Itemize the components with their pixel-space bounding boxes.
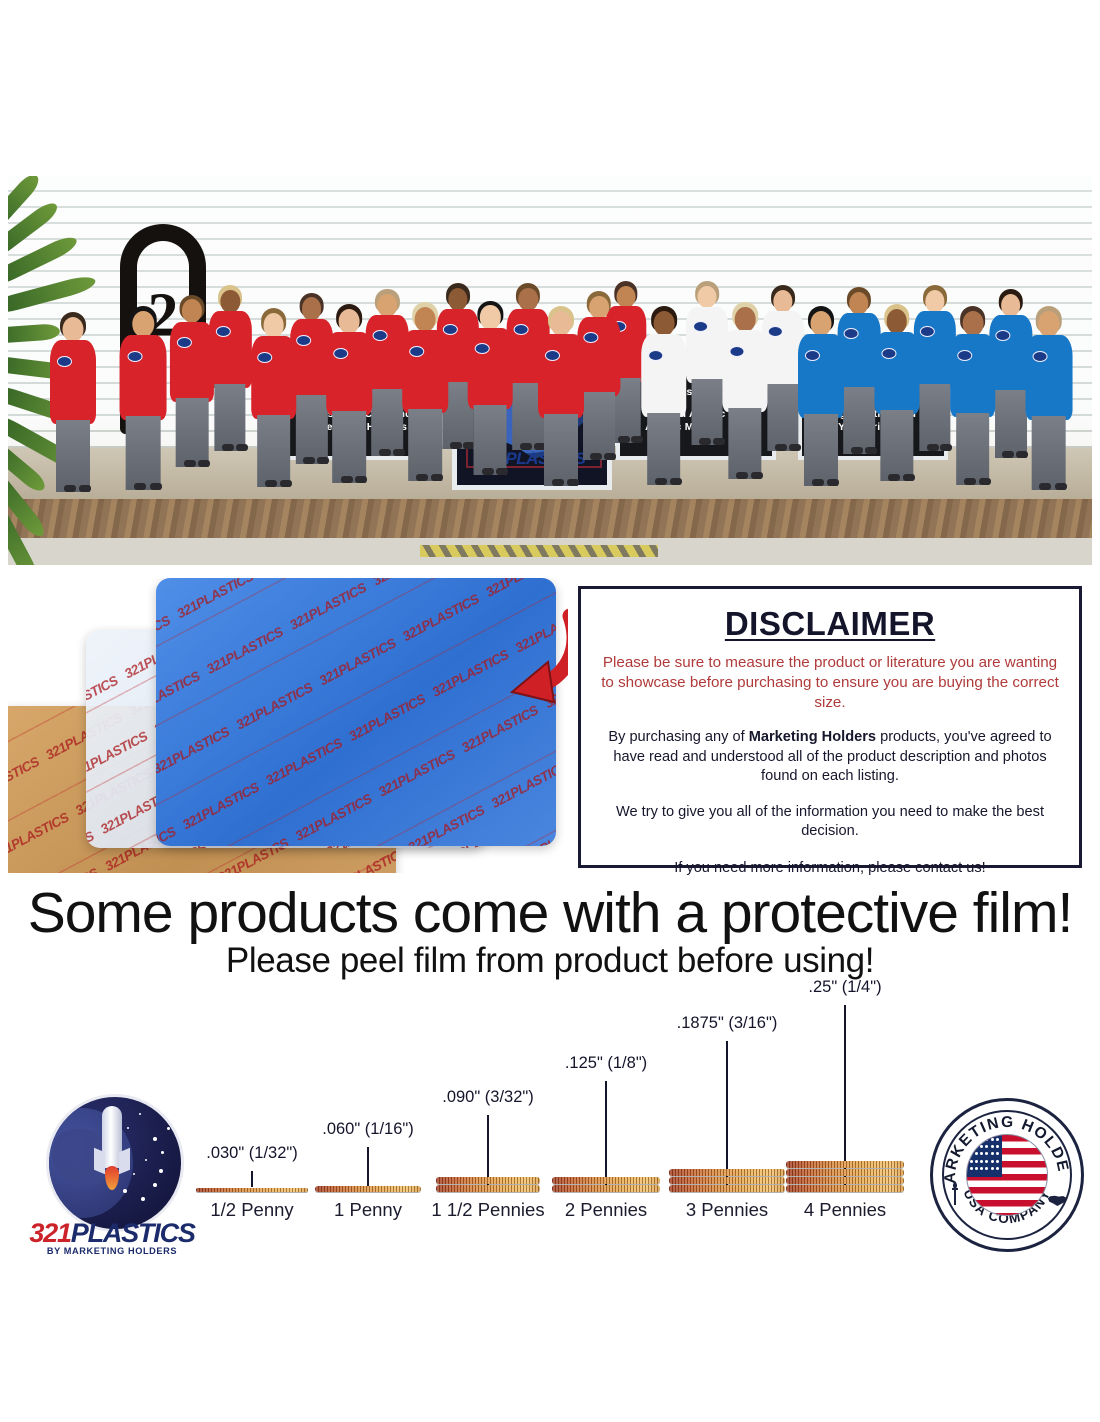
rocket-fin-right — [119, 1148, 130, 1174]
shoe — [567, 479, 579, 486]
shirt-logo-icon — [881, 348, 896, 359]
shirt-logo-icon — [475, 343, 490, 354]
shoe — [482, 468, 494, 475]
staff-member — [248, 308, 299, 516]
us-flag-icon — [966, 1134, 1048, 1216]
shoe — [736, 472, 748, 479]
legs — [767, 384, 798, 450]
staff-member — [871, 304, 922, 510]
shoe — [416, 474, 428, 481]
rocket-flame — [105, 1166, 119, 1190]
legs — [372, 389, 404, 456]
rocket-fin-left — [94, 1148, 105, 1174]
legs — [880, 410, 913, 481]
shirt — [170, 322, 214, 403]
leader-line — [605, 1081, 607, 1187]
category-label: 3 Pennies — [686, 1199, 768, 1221]
legs — [804, 414, 838, 486]
disclaimer-box: DISCLAIMER Please be sure to measure the… — [578, 586, 1082, 868]
flag-star — [996, 1152, 999, 1155]
flag-star — [975, 1160, 978, 1163]
shirt — [874, 332, 919, 414]
legs — [474, 405, 507, 475]
shirt-logo-icon — [215, 326, 230, 337]
penny-coin — [669, 1169, 785, 1176]
shoe — [222, 444, 234, 451]
category-label: 1 Penny — [334, 1199, 402, 1221]
shirt — [798, 334, 844, 418]
head — [887, 309, 908, 334]
leader-line — [726, 1041, 728, 1187]
staff-member — [167, 295, 217, 497]
flag-star — [991, 1138, 994, 1141]
head — [773, 290, 792, 313]
penny-stack — [436, 1177, 540, 1193]
shoe — [431, 474, 443, 481]
head — [550, 311, 571, 336]
shoe — [496, 468, 508, 475]
flag-star — [970, 1138, 973, 1141]
flag-star — [975, 1138, 978, 1141]
shoe — [964, 478, 976, 485]
head — [221, 290, 240, 313]
shirt — [1025, 335, 1072, 421]
legs — [956, 413, 990, 484]
head — [1038, 311, 1059, 337]
staff-group — [8, 258, 1092, 523]
legs — [176, 398, 209, 467]
head — [698, 286, 717, 309]
shoe — [236, 444, 248, 451]
head — [811, 311, 832, 336]
shirt-logo-icon — [334, 348, 349, 359]
flag-star — [991, 1145, 994, 1148]
shirt-logo-icon — [1032, 351, 1047, 362]
protective-film-photo: 321PLASTICS 321PLASTICS 321PLASTICS 321P… — [8, 578, 568, 873]
shoe — [79, 485, 91, 492]
shoe — [827, 479, 839, 486]
measurement-label: .090" (3/32") — [442, 1088, 534, 1107]
penny-coin — [786, 1185, 904, 1192]
legs — [409, 409, 443, 480]
shirt-logo-icon — [409, 346, 424, 357]
marketing-holders-seal: MARKETING HOLDERS USA COMPANY — [930, 1098, 1084, 1252]
legs — [728, 408, 761, 479]
flag-star — [970, 1145, 973, 1148]
shirt — [641, 334, 687, 417]
legs — [333, 411, 367, 482]
measurement-label: .030" (1/32") — [206, 1144, 298, 1163]
star-icon — [161, 1151, 164, 1154]
head — [653, 311, 674, 336]
penny-coin — [436, 1185, 540, 1192]
shirt-logo-icon — [545, 350, 560, 361]
head — [63, 317, 84, 342]
penny-coin — [669, 1185, 785, 1192]
penny-coin — [315, 1186, 421, 1192]
shoe — [280, 480, 292, 487]
shoe — [134, 483, 146, 490]
legs — [647, 413, 681, 484]
staff-member — [1022, 306, 1075, 520]
measurement-label: .060" (1/16") — [322, 1120, 414, 1139]
head — [302, 297, 322, 321]
staff-member — [720, 302, 771, 508]
head — [849, 292, 869, 315]
flag-star — [970, 1152, 973, 1155]
head — [480, 305, 500, 329]
caution-stripe — [420, 545, 658, 557]
shoe — [888, 474, 900, 481]
flag-star — [970, 1160, 973, 1163]
flag-star — [980, 1145, 983, 1148]
flag-star — [980, 1167, 983, 1170]
logo-321plastics: 321PLASTICS BY MARKETING HOLDERS — [24, 1092, 200, 1264]
shirt-logo-icon — [57, 356, 72, 367]
legs — [544, 414, 578, 486]
head — [589, 296, 609, 320]
shoe — [341, 476, 353, 483]
penny-coin — [669, 1177, 785, 1184]
logo-321: 321 — [29, 1218, 70, 1248]
shoe — [552, 479, 564, 486]
flag-star — [975, 1145, 978, 1148]
legs — [692, 379, 723, 445]
flag-star — [996, 1160, 999, 1163]
brand-marketing-holders: Marketing Holders — [749, 729, 876, 745]
shoe — [184, 460, 196, 467]
legs — [583, 392, 615, 460]
head — [962, 311, 983, 336]
head — [415, 307, 436, 332]
flag-star — [996, 1167, 999, 1170]
logo-tagline: BY MARKETING HOLDERS — [24, 1246, 200, 1256]
star-icon — [139, 1113, 141, 1115]
shoe — [520, 443, 532, 450]
red-curved-arrow-icon — [478, 606, 568, 716]
star-icon — [133, 1173, 135, 1175]
head — [925, 290, 944, 313]
flag-star — [991, 1160, 994, 1163]
flag-star — [975, 1152, 978, 1155]
head — [1001, 294, 1021, 318]
shoe — [812, 479, 824, 486]
rocket-icon — [95, 1106, 129, 1198]
star-icon — [153, 1137, 157, 1141]
page-subtitle: Please peel film from product before usi… — [0, 943, 1100, 978]
shoe — [927, 444, 939, 451]
shoe — [670, 478, 682, 485]
shoe — [1002, 451, 1014, 458]
shirt — [723, 330, 768, 412]
flag-canton — [967, 1135, 1002, 1177]
penny-coin — [786, 1161, 904, 1168]
staff-member — [795, 306, 847, 516]
staff-member — [117, 306, 170, 520]
legs — [56, 420, 90, 492]
shirt-logo-icon — [693, 321, 708, 332]
legs — [257, 415, 291, 486]
shirt-logo-icon — [258, 352, 273, 363]
flag-star — [980, 1160, 983, 1163]
head — [182, 299, 202, 323]
flag-star — [975, 1167, 978, 1170]
star-icon — [145, 1159, 147, 1161]
disclaimer-title: DISCLAIMER — [597, 605, 1063, 643]
flag-star — [985, 1167, 988, 1170]
flag-star — [996, 1145, 999, 1148]
star-icon — [167, 1127, 170, 1130]
legs — [126, 416, 161, 489]
leader-line — [251, 1171, 253, 1187]
category-label: 1/2 Penny — [210, 1199, 293, 1221]
flag-star — [980, 1138, 983, 1141]
marketing-page: 2 ★Specialty Products ★Business Card and… — [0, 0, 1100, 1422]
para2-pre: By purchasing any of — [608, 729, 748, 745]
shoe — [450, 442, 462, 449]
category-label: 1 1/2 Pennies — [431, 1199, 544, 1221]
legs — [919, 384, 950, 450]
star-icon — [141, 1197, 145, 1201]
shoe — [604, 453, 616, 460]
flag-star — [970, 1167, 973, 1170]
staff-member — [400, 302, 451, 510]
staff-member — [324, 304, 375, 512]
leader-line — [367, 1147, 369, 1187]
shoe — [303, 457, 315, 464]
page-title: Some products come with a protective fil… — [0, 885, 1100, 942]
shoe — [1039, 483, 1051, 490]
shirt-logo-icon — [957, 350, 972, 361]
penny-coin — [552, 1185, 660, 1192]
legs — [1031, 416, 1066, 489]
shirt-logo-icon — [513, 324, 528, 335]
shoe — [775, 444, 787, 451]
logo-plastics: PLASTICS — [71, 1218, 195, 1248]
flag-star — [985, 1160, 988, 1163]
logo-wordmark: 321PLASTICS — [24, 1220, 200, 1247]
shoe — [655, 478, 667, 485]
disclaimer-para-4: If you need more information, please con… — [597, 859, 1063, 878]
shirt-logo-icon — [177, 337, 192, 348]
flag-star — [980, 1152, 983, 1155]
penny-stack — [669, 1169, 785, 1193]
shoe — [699, 438, 711, 445]
team-photo: 2 ★Specialty Products ★Business Card and… — [8, 176, 1092, 565]
star-icon — [153, 1183, 157, 1187]
shirt — [50, 340, 96, 424]
staff-member — [47, 312, 99, 522]
shoe — [903, 474, 915, 481]
shirt — [468, 328, 513, 409]
head — [339, 309, 360, 334]
flag-star — [985, 1145, 988, 1148]
legs — [215, 384, 246, 450]
penny-stack — [196, 1188, 308, 1193]
head — [133, 311, 154, 337]
staff-member — [465, 301, 515, 505]
staff-member — [638, 306, 689, 514]
penny-coin — [786, 1177, 904, 1184]
penny-stack — [552, 1177, 660, 1193]
measurement-label: .125" (1/8") — [565, 1054, 647, 1073]
disclaimer-para-3: We try to give you all of the informatio… — [597, 803, 1063, 842]
shoe — [979, 478, 991, 485]
penny-coin — [436, 1177, 540, 1184]
shirt — [950, 334, 996, 417]
penny-stack — [786, 1161, 904, 1193]
shirt — [327, 332, 373, 415]
penny-coin — [196, 1188, 308, 1192]
flag-star — [985, 1138, 988, 1141]
penny-stack — [315, 1186, 421, 1193]
flag-star — [985, 1152, 988, 1155]
flag-star — [991, 1152, 994, 1155]
measurement-label: .1875" (3/16") — [677, 1014, 778, 1033]
flag-star — [991, 1167, 994, 1170]
shoe — [379, 449, 391, 456]
flag-star — [996, 1138, 999, 1141]
staff-member — [535, 306, 587, 516]
penny-coin — [786, 1169, 904, 1176]
shirt-logo-icon — [729, 346, 744, 357]
shoe — [355, 476, 367, 483]
shirt — [251, 336, 297, 419]
shoe — [150, 483, 162, 490]
disclaimer-para-2: By purchasing any of Marketing Holders p… — [597, 728, 1063, 786]
leader-line — [844, 1005, 846, 1187]
shirt — [538, 334, 584, 418]
penny-coin — [552, 1177, 660, 1184]
shirt-logo-icon — [648, 350, 663, 361]
shirt-logo-icon — [805, 350, 820, 361]
head — [378, 294, 398, 317]
shoe — [1055, 483, 1067, 490]
shoe — [64, 485, 76, 492]
torch-icon — [949, 1181, 961, 1207]
star-icon — [159, 1169, 163, 1173]
shirt — [403, 330, 449, 413]
shoe — [590, 453, 602, 460]
shirt-logo-icon — [127, 351, 142, 362]
shirt — [120, 335, 167, 421]
legs — [843, 387, 875, 454]
head — [263, 313, 284, 338]
category-label: 2 Pennies — [565, 1199, 647, 1221]
shoe — [198, 460, 210, 467]
disclaimer-red-text: Please be sure to measure the product or… — [597, 653, 1063, 712]
shoe — [265, 480, 277, 487]
staff-member — [947, 306, 998, 514]
head — [735, 307, 756, 332]
measurement-label: .25" (1/4") — [808, 978, 881, 997]
shoe — [851, 447, 863, 454]
shoe — [751, 472, 763, 479]
category-label: 4 Pennies — [804, 1199, 886, 1221]
